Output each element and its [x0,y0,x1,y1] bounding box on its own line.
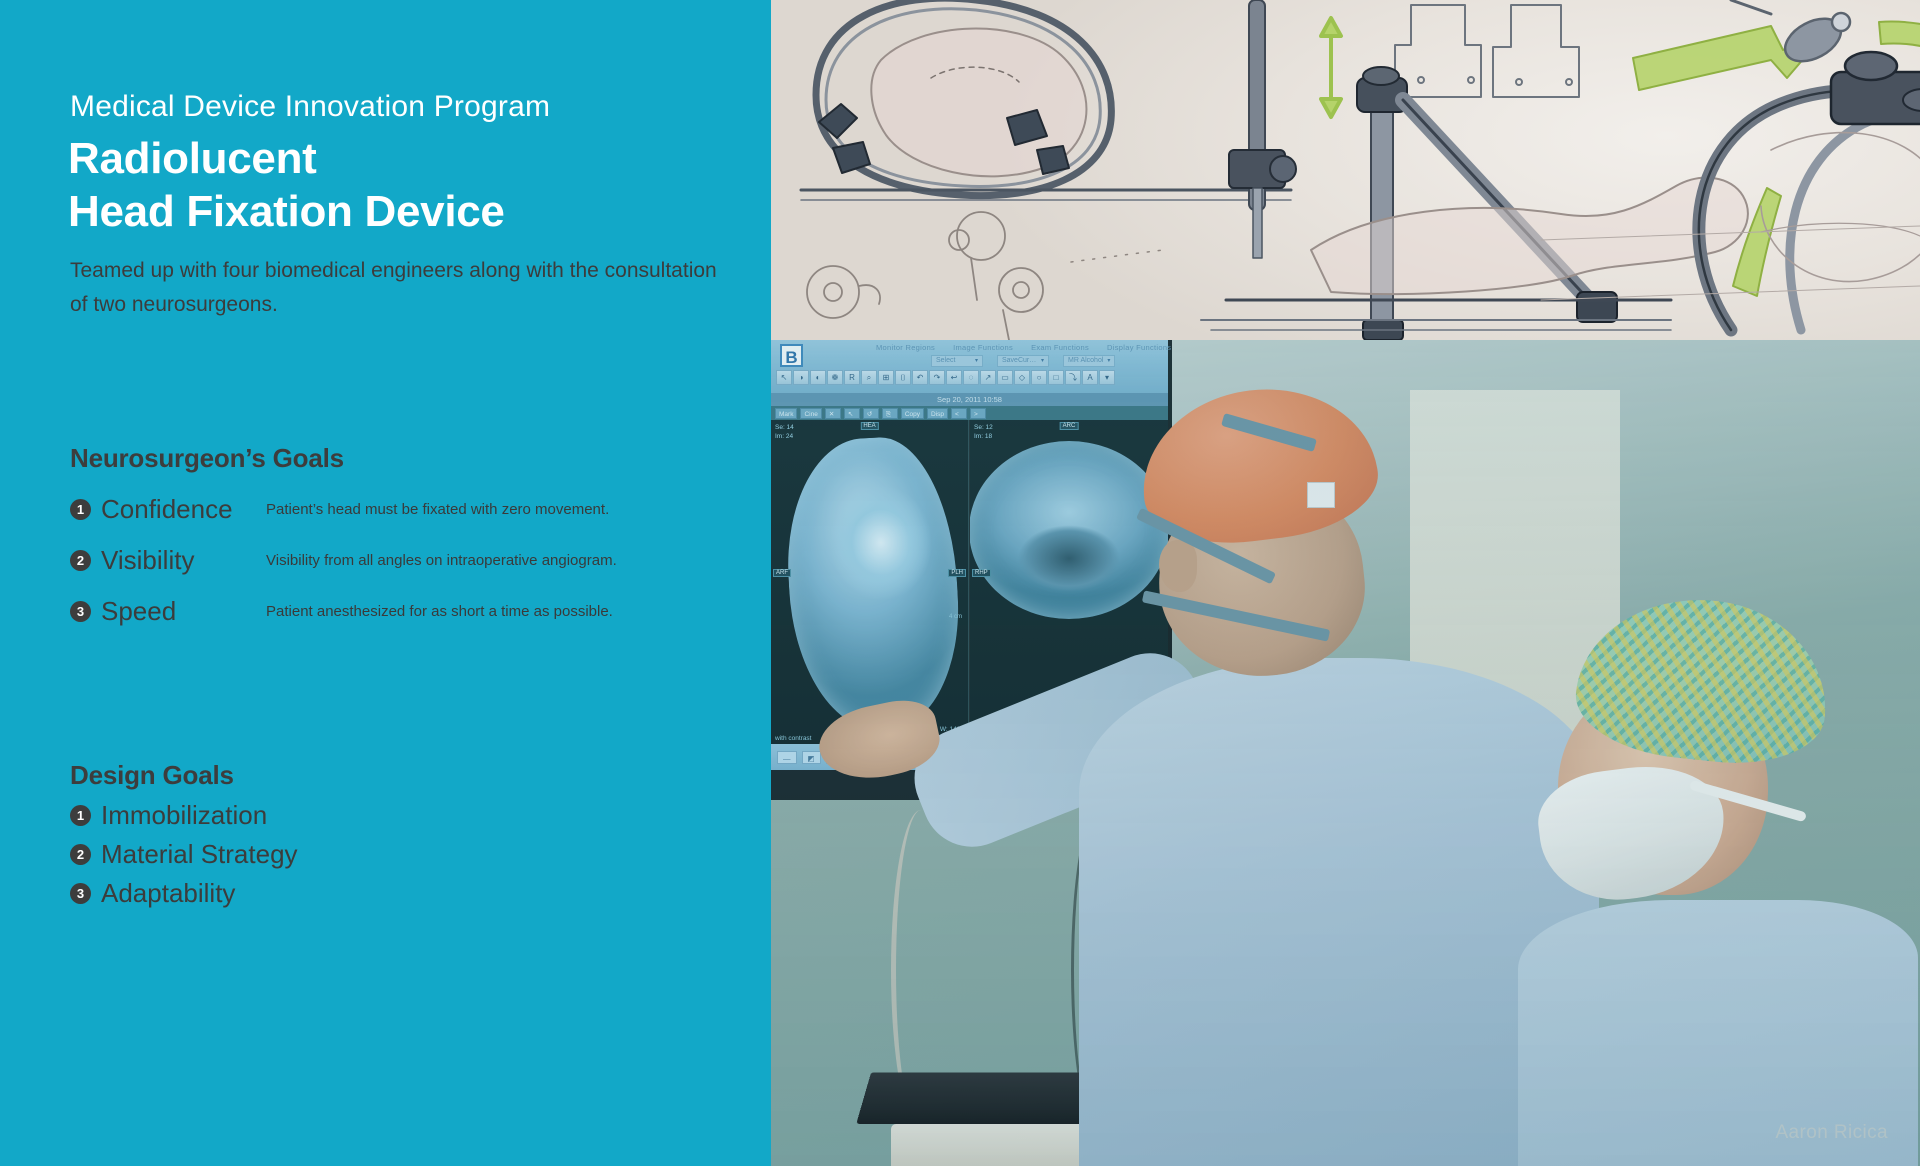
tool-undo-icon[interactable]: ↶ [912,370,928,385]
program-eyebrow: Medical Device Innovation Program [70,90,550,124]
button-cine[interactable]: Cine [800,408,821,419]
tool-text-box-icon[interactable]: ▭ [997,370,1013,385]
menu-item-exam-functions[interactable]: Exam Functions [1031,343,1089,352]
scan-left-scale: 4 cm [949,614,962,620]
left-info-panel: Medical Device Innovation Program Radiol… [0,0,771,1166]
tool-ellipse-icon[interactable]: ○ [1031,370,1047,385]
select-region[interactable]: Select ▾ [931,355,983,367]
surgeon-female [1500,600,1920,1166]
scan-left-meta: Se: 14 Im: 24 [775,423,794,441]
tool-rectangle-icon[interactable]: □ [1048,370,1064,385]
tool-more-icon[interactable]: ▾ [1099,370,1115,385]
goal-description: Patient anesthesized for as short a time… [266,603,613,620]
design-goals-section: Design Goals 1 Immobilization 2 Material… [70,760,298,909]
tool-brightness-icon[interactable]: ◐ [810,370,826,385]
operating-room-photo: B Monitor Regions Image Functions Exam F… [771,340,1920,1166]
list-item: 1 Confidence Patient’s head must be fixa… [70,494,617,525]
tool-arrow-icon[interactable]: ↗ [980,370,996,385]
chevron-down-icon: ▾ [975,355,978,367]
scan-left-series: Se: 14 [775,423,794,432]
chevron-down-icon: ▾ [1107,355,1110,367]
page-title-line-2: Head Fixation Device [68,185,505,238]
goal-description: Patient’s head must be fixated with zero… [266,501,609,518]
monitor-dropdown-row: Select ▾ SaveCur… ▾ MR Alcohol ▾ [931,355,1115,367]
tool-redo-icon[interactable]: ↷ [929,370,945,385]
tool-diamond-icon[interactable]: ◇ [1014,370,1030,385]
scan-right-series: Se: 12 [974,423,993,432]
orientation-marker-right: PLH [948,569,966,577]
button-prev-icon[interactable]: < [951,408,967,419]
tool-pointer-icon[interactable]: ↖ [776,370,792,385]
scan-right-meta: Se: 12 Im: 18 [974,423,993,441]
scan-left-contrast-note: with contrast [775,735,812,742]
cap-logo-patch [1307,482,1335,508]
list-item: 2 Material Strategy [70,839,298,870]
tool-contrast-icon[interactable]: ◑ [793,370,809,385]
select-savecur[interactable]: SaveCur… ▾ [997,355,1049,367]
list-item: 3 Speed Patient anesthesized for as shor… [70,596,617,627]
select-protocol-value: MR Alcohol [1068,355,1103,367]
footer-layout-icon[interactable]: ◩ [802,751,821,764]
slide-root: Medical Device Innovation Program Radiol… [0,0,1920,1166]
tool-annotate-icon[interactable]: A [1082,370,1098,385]
tool-grid-icon[interactable]: ⊞ [878,370,894,385]
button-rotate-icon[interactable]: ↺ [863,408,879,419]
tool-revert-icon[interactable]: ↩ [946,370,962,385]
goal-badge: 2 [70,550,91,571]
goal-badge: 2 [70,844,91,865]
button-pointer-icon[interactable]: ↖ [844,408,860,419]
orientation-marker-left: RHP [972,569,991,577]
goal-label: Adaptability [101,878,235,909]
surgeon-goals-heading: Neurosurgeon’s Goals [70,443,617,474]
list-item: 3 Adaptability [70,878,298,909]
menu-item-monitor-regions[interactable]: Monitor Regions [876,343,935,352]
goal-badge: 1 [70,805,91,826]
goal-label: Confidence [101,494,266,525]
page-title: Radiolucent Head Fixation Device [68,132,505,238]
button-copy[interactable]: Copy [901,408,924,419]
tool-rotate-icon[interactable]: ◌ [963,370,979,385]
monitor-tool-palette: ↖ ◑ ◐ ❁ R ⌕ ⊞ ⌷ ↶ ↷ ↩ ◌ ↗ ▭ ◇ ○ □ [776,370,1164,385]
goal-description: Visibility from all angles on intraopera… [266,552,617,569]
mri-sagittal-viewport[interactable]: Se: 14 Im: 24 HEA ARF PLH FRF with contr… [771,420,969,744]
goal-badge: 3 [70,601,91,622]
goal-label: Immobilization [101,800,267,831]
tool-measure-icon[interactable]: ⤵ [1065,370,1081,385]
mri-sagittal-image [781,434,964,734]
scan-left-image-num: Im: 24 [775,432,794,441]
orientation-marker-top: HEA [860,422,878,430]
sketch-lineart [771,0,1920,340]
surgeon-male-ear [1159,540,1197,592]
monitor-app-toolbar: B Monitor Regions Image Functions Exam F… [771,340,1168,393]
footer-minimize-icon[interactable]: — [777,751,797,764]
scan-right-image-num: Im: 18 [974,432,993,441]
concept-sketch-image [771,0,1920,340]
button-next-icon[interactable]: > [970,408,986,419]
list-item: 1 Immobilization [70,800,298,831]
select-protocol[interactable]: MR Alcohol ▾ [1063,355,1115,367]
menu-item-image-functions[interactable]: Image Functions [953,343,1013,352]
orientation-marker-left: ARF [773,569,791,577]
goal-badge: 1 [70,499,91,520]
button-mark[interactable]: Mark [775,408,797,419]
design-goals-heading: Design Goals [70,760,298,791]
monitor-menubar: Monitor Regions Image Functions Exam Fun… [876,343,1171,352]
select-region-value: Select [936,355,955,367]
button-close-icon[interactable]: ✕ [825,408,841,419]
chevron-down-icon: ▾ [1041,355,1044,367]
surgeon-goals-section: Neurosurgeon’s Goals 1 Confidence Patien… [70,443,617,627]
list-item: 2 Visibility Visibility from all angles … [70,545,617,576]
button-copy-icon[interactable]: ⎘ [882,408,898,419]
goal-badge: 3 [70,883,91,904]
goal-label: Speed [101,596,266,627]
menu-item-display-functions[interactable]: Display Functions [1107,343,1171,352]
goal-label: Material Strategy [101,839,298,870]
select-savecur-value: SaveCur… [1002,355,1036,367]
photographer-watermark: Aaron Ricica [1775,1122,1888,1144]
button-display[interactable]: Disp [927,408,948,419]
tool-reset-icon[interactable]: R [844,370,860,385]
tool-sharpen-icon[interactable]: ❁ [827,370,843,385]
page-title-line-1: Radiolucent [68,132,505,185]
goal-label: Visibility [101,545,266,576]
page-subtitle: Teamed up with four biomedical engineers… [70,254,720,322]
tool-zoom-icon[interactable]: ⌕ [861,370,877,385]
app-logo-icon: B [780,344,803,367]
tool-layout-icon[interactable]: ⌷ [895,370,911,385]
